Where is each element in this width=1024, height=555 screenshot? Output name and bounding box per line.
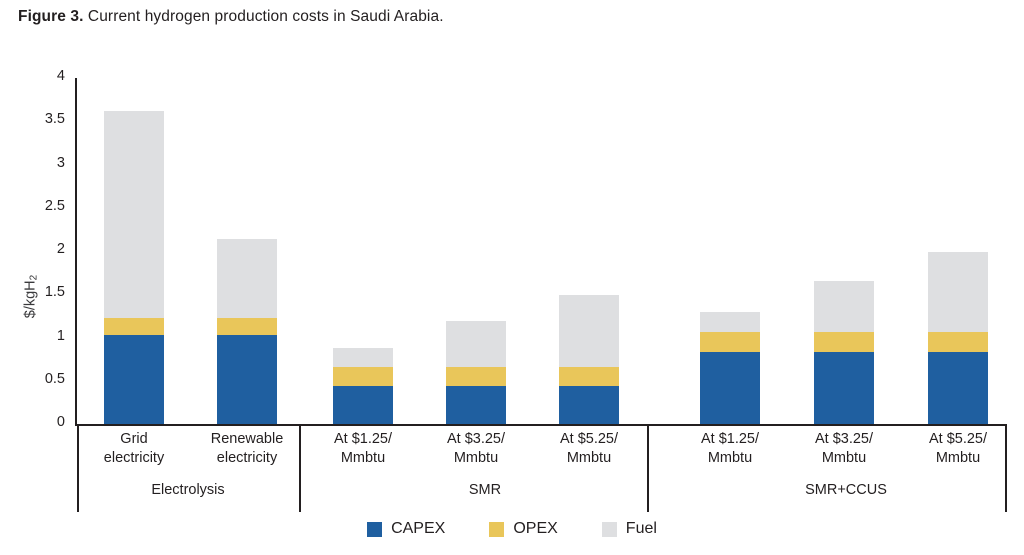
group-label: SMR+CCUS	[736, 482, 956, 498]
bar-segment-capex[interactable]	[928, 352, 988, 424]
group-separator	[299, 426, 301, 512]
legend-item[interactable]: CAPEX	[367, 520, 445, 538]
legend-item[interactable]: OPEX	[489, 520, 557, 538]
bar-segment-capex[interactable]	[814, 352, 874, 424]
bar-segment-fuel[interactable]	[814, 281, 874, 332]
chart-legend: CAPEXOPEXFuel	[0, 520, 1024, 538]
bar-stack[interactable]	[446, 321, 506, 424]
bar-stack[interactable]	[559, 295, 619, 424]
group-frame-right	[1005, 426, 1007, 512]
legend-swatch-icon	[489, 522, 504, 537]
bar-stack[interactable]	[814, 281, 874, 424]
group-separator	[647, 426, 649, 512]
legend-label: Fuel	[626, 520, 657, 538]
legend-swatch-icon	[367, 522, 382, 537]
figure-caption-text: Current hydrogen production costs in Sau…	[88, 8, 444, 25]
bar-stack[interactable]	[217, 239, 277, 424]
chart-figure: $/kgH2 00.511.522.533.54 Gridelectricity…	[0, 60, 1024, 555]
group-frame-left	[77, 426, 79, 512]
bar-segment-opex[interactable]	[928, 332, 988, 352]
bar-stack[interactable]	[700, 312, 760, 424]
bar-stack[interactable]	[104, 111, 164, 424]
bar-segment-capex[interactable]	[700, 352, 760, 424]
bar-segment-capex[interactable]	[104, 335, 164, 424]
bar-stack[interactable]	[333, 348, 393, 424]
figure-caption: Figure 3. Current hydrogen production co…	[18, 8, 444, 26]
bar-segment-fuel[interactable]	[928, 252, 988, 332]
bar-segment-capex[interactable]	[446, 386, 506, 424]
bar-stack[interactable]	[928, 252, 988, 424]
bar-segment-opex[interactable]	[814, 332, 874, 352]
bar-segment-opex[interactable]	[559, 367, 619, 386]
figure-number: Figure 3.	[18, 8, 84, 25]
legend-label: OPEX	[513, 520, 557, 538]
bar-segment-capex[interactable]	[217, 335, 277, 424]
bar-segment-opex[interactable]	[700, 332, 760, 352]
bar-segment-opex[interactable]	[104, 318, 164, 334]
group-label: SMR	[375, 482, 595, 498]
bar-segment-capex[interactable]	[559, 386, 619, 424]
bar-segment-fuel[interactable]	[217, 239, 277, 319]
plot-area	[77, 78, 1007, 424]
bar-segment-opex[interactable]	[446, 367, 506, 386]
bar-segment-capex[interactable]	[333, 386, 393, 424]
legend-swatch-icon	[602, 522, 617, 537]
legend-label: CAPEX	[391, 520, 445, 538]
group-label-band: ElectrolysisSMRSMR+CCUS	[77, 426, 1007, 516]
bar-segment-opex[interactable]	[333, 367, 393, 386]
bar-segment-fuel[interactable]	[700, 312, 760, 333]
group-label: Electrolysis	[78, 482, 298, 498]
bar-segment-opex[interactable]	[217, 318, 277, 334]
bar-segment-fuel[interactable]	[559, 295, 619, 367]
y-axis-ticks: 00.511.522.533.54	[0, 60, 75, 425]
bar-segment-fuel[interactable]	[104, 111, 164, 319]
legend-item[interactable]: Fuel	[602, 520, 657, 538]
bar-segment-fuel[interactable]	[333, 348, 393, 367]
bar-segment-fuel[interactable]	[446, 321, 506, 367]
